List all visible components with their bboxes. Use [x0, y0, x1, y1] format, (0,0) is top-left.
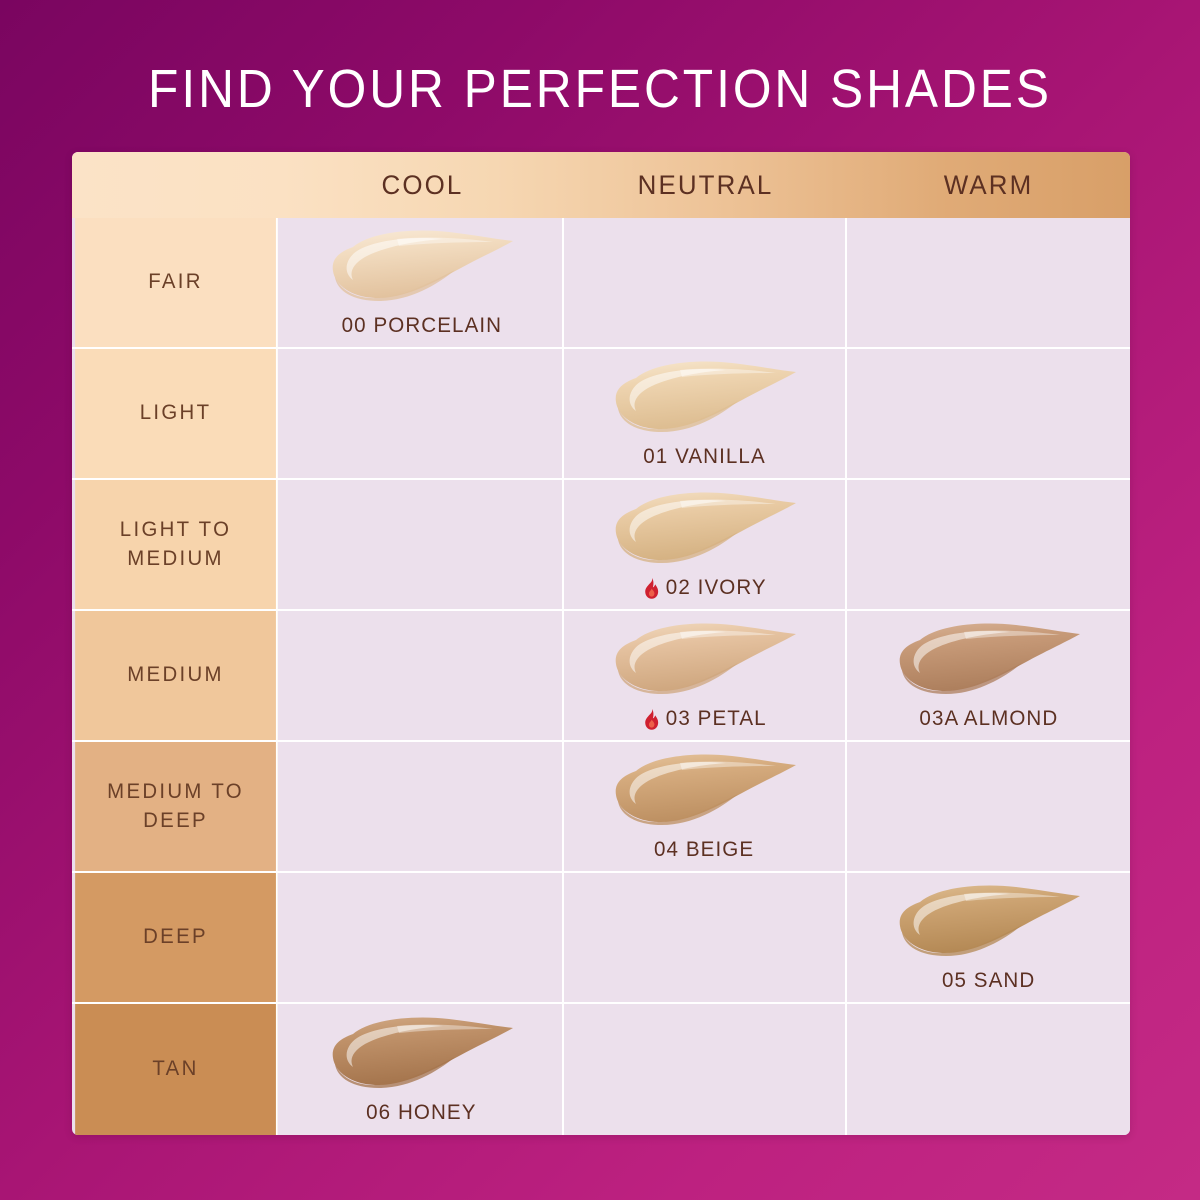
shade-cell-empty	[281, 742, 564, 871]
table-row: LIGHT01 VANILLA	[72, 349, 1130, 480]
shade-cell-empty	[847, 349, 1130, 478]
row-label-fair: FAIR	[75, 218, 278, 347]
table-row: DEEP05 SAND	[72, 873, 1130, 1004]
table-row: MEDIUM03 PETAL03A ALMOND	[72, 611, 1130, 742]
shade-finder-table: COOL NEUTRAL WARM FAIR00 PORCELAINLIGHT0…	[72, 152, 1130, 1135]
shade-label: 05 SAND	[942, 969, 1035, 993]
shade-swatch[interactable]	[610, 620, 800, 698]
shade-cell-empty	[281, 349, 564, 478]
shade-swatch-graphic	[327, 227, 517, 305]
header-corner-cell	[76, 152, 277, 218]
shade-name-text: 06 HONEY	[366, 1101, 476, 1125]
shade-cell-empty	[281, 873, 564, 1002]
shade-label: 03A ALMOND	[919, 707, 1058, 731]
shade-cell-03a-almond[interactable]: 03A ALMOND	[847, 611, 1130, 740]
flame-icon	[643, 709, 660, 730]
shade-swatch-graphic	[327, 1014, 517, 1092]
shade-label: 00 PORCELAIN	[341, 314, 501, 338]
shade-label: 04 BEIGE	[654, 838, 754, 862]
table-row: MEDIUM TO DEEP04 BEIGE	[72, 742, 1130, 873]
shade-name-text: 02 IVORY	[665, 576, 766, 600]
shade-cell-empty	[564, 873, 847, 1002]
table-header-row: COOL NEUTRAL WARM	[72, 152, 1130, 218]
page-title: FIND YOUR PERFECTION SHADES	[48, 58, 1152, 120]
shade-name-text: 04 BEIGE	[654, 838, 754, 862]
shade-cell-02-ivory[interactable]: 02 IVORY	[564, 480, 847, 609]
shade-swatch[interactable]	[894, 620, 1084, 698]
shade-name-text: 00 PORCELAIN	[341, 314, 501, 338]
shade-cell-06-honey[interactable]: 06 HONEY	[281, 1004, 564, 1135]
shade-swatch[interactable]	[327, 1014, 517, 1092]
row-label-light-to-medium: LIGHT TO MEDIUM	[75, 480, 278, 609]
column-header-warm[interactable]: WARM	[853, 152, 1125, 218]
shade-name-text: 01 VANILLA	[643, 445, 766, 469]
shade-cell-empty	[847, 742, 1130, 871]
shade-cell-empty	[281, 611, 564, 740]
row-label-medium: MEDIUM	[75, 611, 278, 740]
shade-swatch[interactable]	[327, 227, 517, 305]
shade-cell-empty	[564, 1004, 847, 1135]
shade-cell-03-petal[interactable]: 03 PETAL	[564, 611, 847, 740]
table-row: LIGHT TO MEDIUM02 IVORY	[72, 480, 1130, 611]
column-header-cool[interactable]: COOL	[287, 152, 559, 218]
shade-swatch-graphic	[610, 751, 800, 829]
shade-swatch[interactable]	[610, 489, 800, 567]
shade-label: 06 HONEY	[366, 1101, 476, 1125]
shade-label: 02 IVORY	[643, 576, 766, 600]
shade-cell-empty	[847, 1004, 1130, 1135]
shade-label: 03 PETAL	[643, 707, 766, 731]
column-header-neutral[interactable]: NEUTRAL	[570, 152, 842, 218]
shade-cell-empty	[281, 480, 564, 609]
shade-cell-00-porcelain[interactable]: 00 PORCELAIN	[281, 218, 564, 347]
shade-cell-empty	[847, 480, 1130, 609]
shade-swatch-graphic	[894, 620, 1084, 698]
shade-swatch-graphic	[610, 489, 800, 567]
shade-cell-05-sand[interactable]: 05 SAND	[847, 873, 1130, 1002]
shade-swatch[interactable]	[610, 358, 800, 436]
shade-swatch-graphic	[610, 620, 800, 698]
shade-cell-04-beige[interactable]: 04 BEIGE	[564, 742, 847, 871]
shade-name-text: 03A ALMOND	[919, 707, 1058, 731]
shade-cell-empty	[847, 218, 1130, 347]
flame-icon	[643, 578, 660, 599]
row-label-medium-to-deep: MEDIUM TO DEEP	[75, 742, 278, 871]
shade-swatch-graphic	[894, 882, 1084, 960]
table-row: FAIR00 PORCELAIN	[72, 218, 1130, 349]
shade-swatch[interactable]	[894, 882, 1084, 960]
row-label-deep: DEEP	[75, 873, 278, 1002]
table-row: TAN06 HONEY	[72, 1004, 1130, 1135]
row-label-light: LIGHT	[75, 349, 278, 478]
shade-cell-empty	[564, 218, 847, 347]
table-body: FAIR00 PORCELAINLIGHT01 VANILLALIGHT TO …	[72, 218, 1130, 1135]
shade-cell-01-vanilla[interactable]: 01 VANILLA	[564, 349, 847, 478]
shade-name-text: 03 PETAL	[665, 707, 766, 731]
shade-name-text: 05 SAND	[942, 969, 1035, 993]
shade-swatch[interactable]	[610, 751, 800, 829]
shade-label: 01 VANILLA	[643, 445, 766, 469]
shade-swatch-graphic	[610, 358, 800, 436]
row-label-tan: TAN	[75, 1004, 278, 1135]
